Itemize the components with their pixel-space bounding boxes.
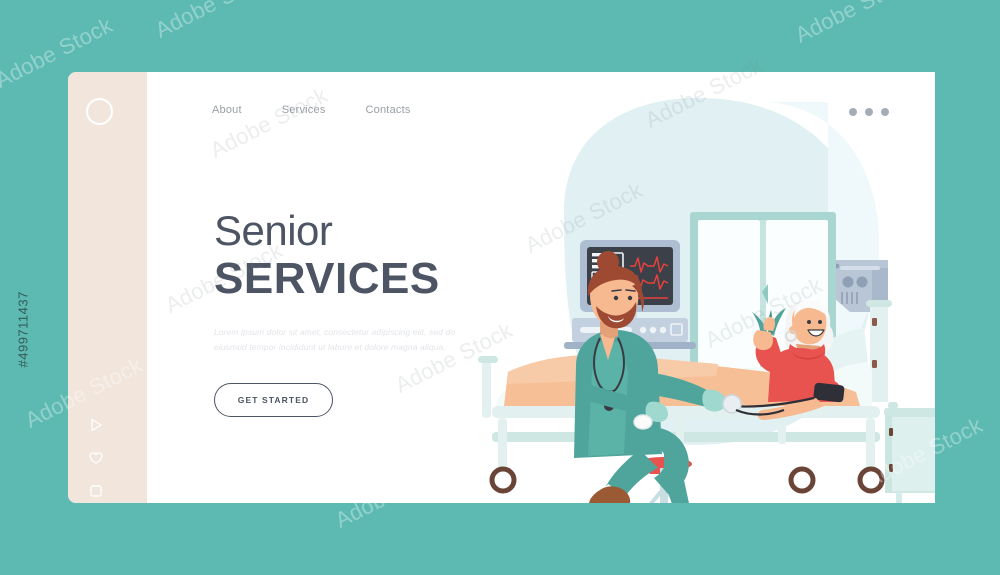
landing-page-card: About Services Contacts Senior SERVICES … xyxy=(68,72,935,503)
watermark-tile: Adobe Stock xyxy=(151,0,277,44)
hero-description: Lorem ipsum dolor sit amet, consectetur … xyxy=(214,325,482,355)
get-started-button[interactable]: GET STARTED xyxy=(214,383,333,417)
left-rail xyxy=(68,72,147,503)
watermark-tile: Adobe Stock xyxy=(791,0,917,49)
blood-pressure-cuff xyxy=(813,382,845,402)
stock-image-id: #499711437 xyxy=(16,228,31,368)
rail-icon-group xyxy=(88,417,104,499)
square-icon[interactable] xyxy=(88,483,104,499)
bedside-cabinet xyxy=(884,402,935,503)
main-navigation: About Services Contacts xyxy=(212,104,411,116)
circle-logo[interactable] xyxy=(86,98,113,125)
illustration-canvas xyxy=(468,72,935,503)
nav-item-contacts[interactable]: Contacts xyxy=(366,104,411,116)
heart-icon[interactable] xyxy=(88,450,104,466)
nav-item-about[interactable]: About xyxy=(212,104,242,116)
play-icon[interactable] xyxy=(88,417,104,433)
hero-illustration xyxy=(468,72,935,503)
nav-item-services[interactable]: Services xyxy=(282,104,326,116)
